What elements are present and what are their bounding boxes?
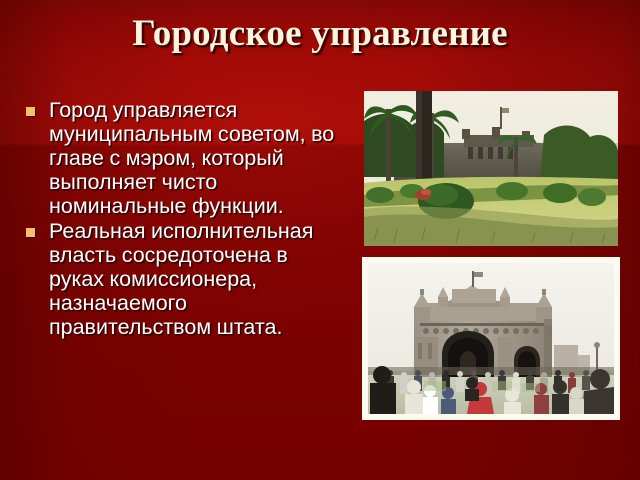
square-bullet-icon bbox=[26, 107, 35, 116]
garden-building-photo bbox=[364, 91, 618, 246]
gateway-of-india-illustration bbox=[368, 263, 614, 414]
square-bullet-icon bbox=[26, 228, 35, 237]
gateway-of-india-photo bbox=[362, 257, 620, 420]
presentation-slide: Городское управление Город управляется м… bbox=[0, 0, 640, 480]
slide-title: Городское управление bbox=[0, 12, 640, 56]
garden-building-illustration bbox=[364, 91, 618, 246]
list-item: Город управляется муниципальным советом,… bbox=[26, 98, 344, 218]
bullet-list: Город управляется муниципальным советом,… bbox=[26, 98, 344, 340]
bullet-item-text: Реальная исполнительная власть сосредото… bbox=[35, 219, 344, 339]
bullet-item-text: Город управляется муниципальным советом,… bbox=[35, 98, 344, 218]
list-item: Реальная исполнительная власть сосредото… bbox=[26, 219, 344, 339]
